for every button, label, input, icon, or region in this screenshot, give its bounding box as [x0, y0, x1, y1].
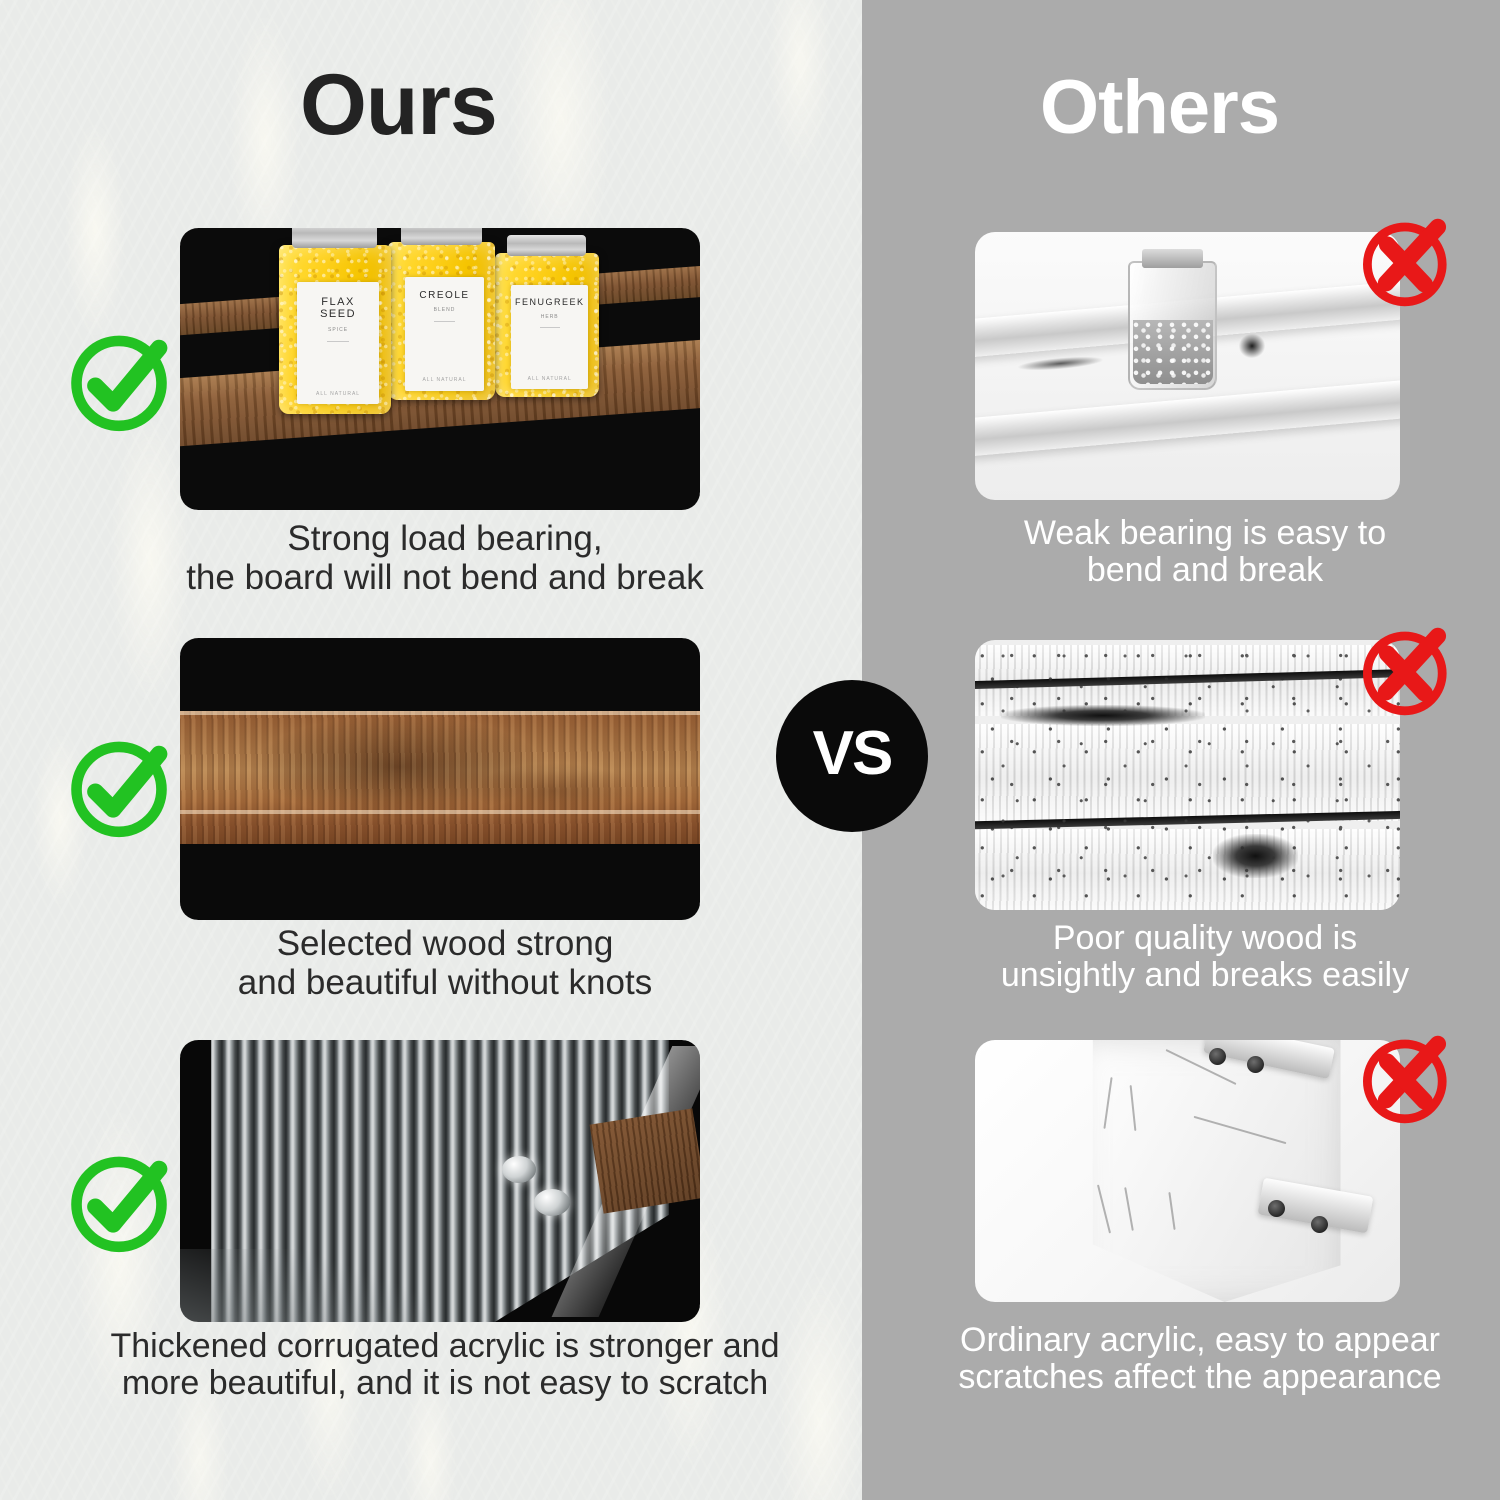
ours-photo-load-bearing: FENUGREEK HERB ALL NATURAL CREOLE BLEND …	[180, 228, 700, 510]
jar-3-footer: ALL NATURAL	[528, 376, 572, 382]
ours-photo-corrugated-acrylic	[180, 1040, 700, 1322]
spice-jar-2: CREOLE BLEND ALL NATURAL	[388, 242, 495, 400]
spice-jar-3: FENUGREEK HERB ALL NATURAL	[495, 253, 599, 397]
ours-photo-selected-wood	[180, 638, 700, 920]
check-circle-icon	[60, 322, 178, 440]
check-circle-icon	[60, 1143, 178, 1261]
cross-circle-icon	[1352, 614, 1462, 724]
jar-2-subtitle: BLEND	[434, 307, 456, 313]
page-title-others: Others	[1040, 70, 1279, 146]
jar-1-subtitle: SPICE	[328, 327, 348, 333]
jar-1-footer: ALL NATURAL	[316, 391, 360, 397]
cross-circle-icon	[1352, 1022, 1462, 1132]
others-photo-poor-wood	[975, 640, 1400, 910]
check-circle-icon	[60, 728, 178, 846]
jar-2-name: CREOLE	[419, 290, 469, 301]
others-photo-weak-bearing	[975, 232, 1400, 500]
others-photo-scratched-acrylic	[975, 1040, 1400, 1302]
vs-badge-label: VS	[813, 723, 892, 785]
page-title-ours: Ours	[300, 62, 497, 148]
comparison-infographic: Ours Others VS FENUGREEK HERB ALL NATURA…	[0, 0, 1500, 1500]
ours-caption-load-bearing: Strong load bearing, the board will not …	[120, 520, 770, 597]
others-caption-poor-wood: Poor quality wood is unsightly and break…	[955, 920, 1455, 995]
vs-badge: VS	[776, 680, 928, 832]
ours-caption-selected-wood: Selected wood strong and beautiful witho…	[120, 925, 770, 1002]
jar-2-footer: ALL NATURAL	[422, 377, 466, 383]
others-caption-weak-bearing: Weak bearing is easy to bend and break	[955, 515, 1455, 590]
jar-3-name: FENUGREEK	[515, 297, 585, 307]
ours-caption-corrugated-acrylic: Thickened corrugated acrylic is stronger…	[55, 1328, 835, 1403]
others-caption-scratched-acrylic: Ordinary acrylic, easy to appear scratch…	[915, 1322, 1485, 1397]
spice-jar-1: FLAX SEED SPICE ALL NATURAL	[279, 245, 391, 414]
jar-1-name: FLAX SEED	[320, 296, 356, 321]
cross-circle-icon	[1352, 205, 1462, 315]
jar-3-subtitle: HERB	[541, 314, 559, 320]
